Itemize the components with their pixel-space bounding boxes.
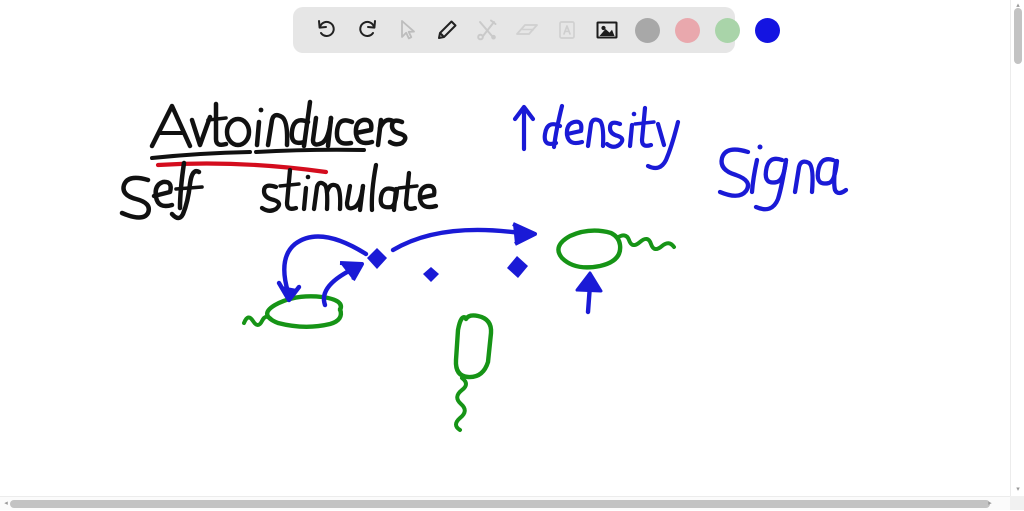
molecule-2 [423, 267, 439, 282]
handwriting-signal [720, 145, 846, 210]
undo-icon [315, 18, 339, 42]
pencil-icon [435, 18, 459, 42]
vertical-scrollbar-thumb[interactable] [1014, 8, 1022, 64]
bacterium-right [558, 231, 674, 268]
molecule-1 [367, 248, 387, 269]
cursor-icon [395, 18, 419, 42]
scrollbar-corner [1010, 496, 1024, 510]
tools-icon [475, 18, 499, 42]
text-a-icon [555, 18, 579, 42]
scroll-right-arrow-icon[interactable]: ▸ [984, 497, 996, 511]
blue-color-dot [755, 18, 780, 43]
redo-button[interactable] [347, 10, 387, 50]
drawing-canvas[interactable] [0, 0, 1010, 486]
vertical-scrollbar[interactable]: ▴ ▾ [1010, 0, 1024, 496]
drawing-toolbar[interactable] [293, 7, 735, 53]
image-icon [594, 18, 620, 42]
color-swatch-green[interactable] [707, 10, 747, 50]
red-color-dot [675, 18, 700, 43]
scroll-down-arrow-icon[interactable]: ▾ [1011, 484, 1024, 496]
drawing-surface[interactable] [0, 0, 1010, 486]
handwriting-stimulate [262, 165, 436, 211]
horizontal-scrollbar-thumb[interactable] [10, 500, 990, 508]
underline-inducers [256, 150, 364, 152]
bacterium-left [244, 296, 341, 326]
color-swatch-red[interactable] [667, 10, 707, 50]
shapes-tool-button[interactable] [467, 10, 507, 50]
eraser-icon [514, 18, 540, 42]
color-swatch-blue[interactable] [747, 10, 787, 50]
molecule-3 [507, 256, 528, 278]
color-swatch-gray[interactable] [627, 10, 667, 50]
select-tool-button[interactable] [387, 10, 427, 50]
bacterium-bottom [456, 315, 491, 430]
redo-icon [355, 18, 379, 42]
green-color-dot [715, 18, 740, 43]
gray-color-dot [635, 18, 660, 43]
handwriting-auto-inducers [152, 102, 405, 146]
eraser-tool-button[interactable] [507, 10, 547, 50]
handwriting-up-density [515, 106, 678, 168]
arrow-receive-up [577, 273, 601, 312]
undo-button[interactable] [307, 10, 347, 50]
arrow-diffuse-right [393, 224, 535, 250]
underline-auto [152, 152, 250, 158]
horizontal-scrollbar[interactable]: ◂ ▸ [0, 496, 1010, 510]
pen-tool-button[interactable] [427, 10, 467, 50]
text-tool-button[interactable] [547, 10, 587, 50]
insert-image-button[interactable] [587, 10, 627, 50]
handwriting-self [122, 163, 202, 218]
